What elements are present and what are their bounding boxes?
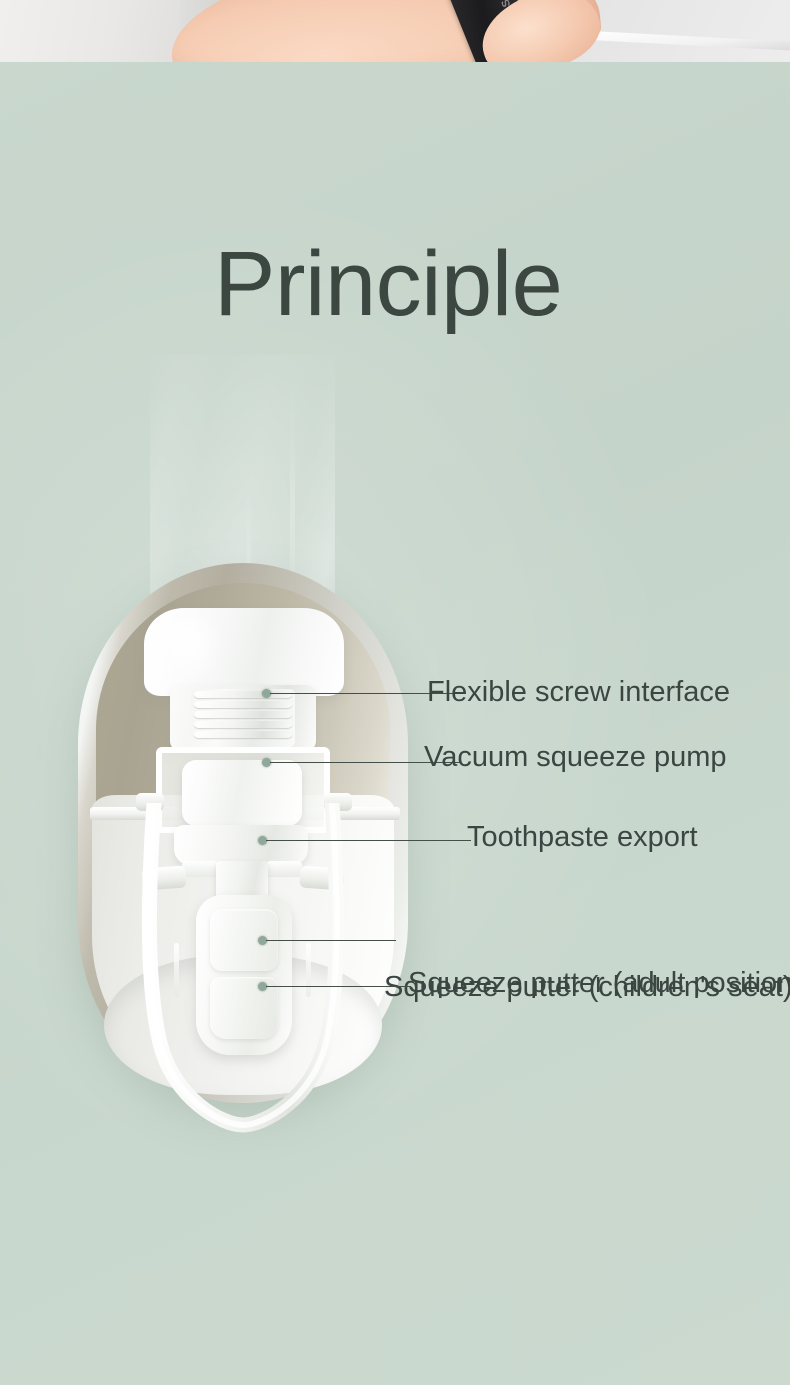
tube-highlight bbox=[388, 355, 395, 480]
screw-thread bbox=[194, 731, 292, 738]
tube-highlight bbox=[340, 415, 345, 625]
product-infographic-page: ORISIMP Principle bbox=[0, 0, 790, 1385]
callout-label-flexible-screw-interface: Flexible screw interface bbox=[427, 678, 730, 707]
leader-line bbox=[266, 840, 471, 841]
screw-thread bbox=[194, 701, 292, 708]
screw-thread bbox=[194, 721, 292, 728]
callout-label-vacuum-squeeze-pump: Vacuum squeeze pump bbox=[424, 743, 727, 772]
photo-wall-left bbox=[0, 0, 200, 62]
callout-label-toothpaste-export: Toothpaste export bbox=[467, 823, 698, 852]
callout-label-squeeze-putter-adult-position: Squeeze putter (adult position) bbox=[408, 969, 790, 998]
leader-line bbox=[266, 940, 396, 941]
leader-line bbox=[266, 986, 411, 987]
product-illustration bbox=[78, 355, 418, 1145]
squeeze-putter bbox=[196, 895, 292, 1055]
tube-shoulder-highlight bbox=[166, 617, 224, 683]
product-photo-strip: ORISIMP bbox=[0, 0, 790, 62]
screw-thread bbox=[194, 711, 292, 718]
page-title: Principle bbox=[214, 238, 562, 330]
